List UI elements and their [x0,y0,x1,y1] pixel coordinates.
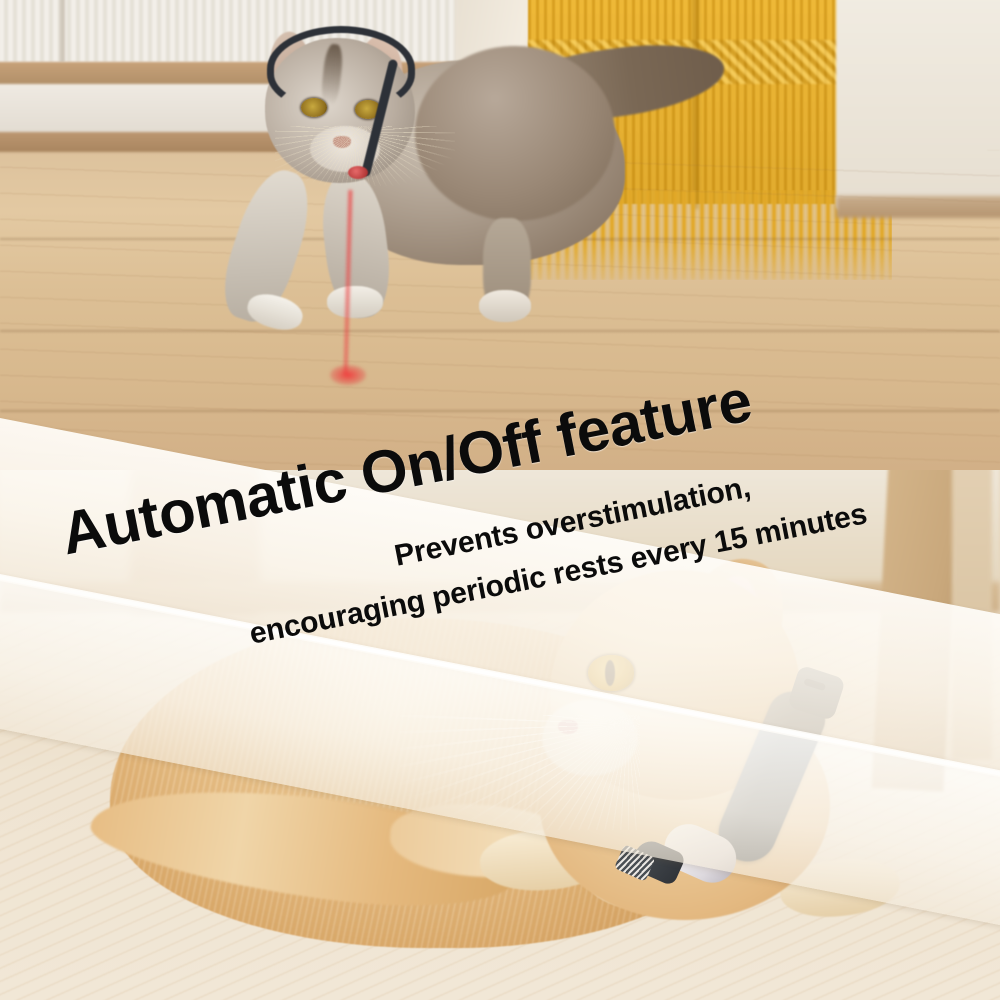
grey-tabby-cat [215,18,645,358]
product-feature-image: Automatic On/Off feature Prevents overst… [0,0,1000,1000]
cat-front-paw-right [327,286,383,318]
cat-front-paw-left [244,289,307,335]
cabinet-seam [60,0,65,62]
scene-top-laser-chase [0,0,1000,470]
cat-hind-paw [479,290,531,322]
plank-seam [0,410,1000,412]
laser-dot [330,365,366,385]
laser-emitter-icon [348,166,368,179]
